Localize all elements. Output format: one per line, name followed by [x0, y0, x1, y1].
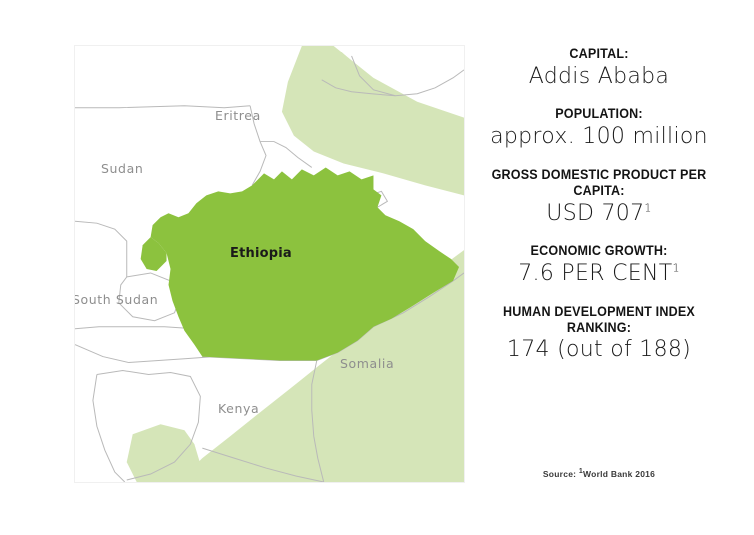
fact-growth-value: 7.6 PER CENT1: [476, 260, 722, 288]
fact-population-value-text: approx. 100 million: [490, 124, 708, 149]
fact-capital-value-text: Addis Ababa: [529, 64, 669, 89]
fact-growth-value-text: 7.6 PER CENT: [518, 261, 672, 286]
fact-hdi-ranking: HUMAN DEVELOPMENT INDEX RANKING: 174 (ou…: [476, 304, 722, 364]
fact-population: POPULATION: approx. 100 million: [476, 106, 722, 150]
fact-capital-label: CAPITAL:: [485, 46, 714, 62]
fact-gdp-per-capita: GROSS DOMESTIC PRODUCT PER CAPITA: USD 7…: [476, 167, 722, 227]
fact-hdi-value-text: 174 (out of 188): [507, 337, 691, 362]
fact-capital-value: Addis Ababa: [476, 63, 722, 91]
fact-gdp-value: USD 7071: [476, 200, 722, 228]
source-text: World Bank 2016: [583, 469, 655, 479]
country-facts-panel: CAPITAL: Addis Ababa POPULATION: approx.…: [476, 46, 722, 380]
fact-capital: CAPITAL: Addis Ababa: [476, 46, 722, 90]
fact-population-value: approx. 100 million: [476, 123, 722, 151]
fact-growth-label: ECONOMIC GROWTH:: [485, 243, 714, 259]
fact-hdi-label: HUMAN DEVELOPMENT INDEX RANKING:: [485, 304, 714, 336]
fact-gdp-value-text: USD 707: [546, 201, 644, 226]
fact-economic-growth: ECONOMIC GROWTH: 7.6 PER CENT1: [476, 243, 722, 287]
source-note: Source: 1World Bank 2016: [476, 469, 722, 479]
fact-gdp-label: GROSS DOMESTIC PRODUCT PER CAPITA:: [485, 167, 714, 199]
source-prefix: Source:: [543, 469, 579, 479]
fact-hdi-value: 174 (out of 188): [476, 336, 722, 364]
map-graphic: [75, 46, 464, 482]
fact-population-label: POPULATION:: [485, 106, 714, 122]
map-panel: Sudan Eritrea South Sudan Ethiopia Somal…: [74, 45, 465, 483]
fact-growth-footnote-marker: 1: [672, 262, 679, 275]
fact-gdp-footnote-marker: 1: [644, 201, 651, 214]
